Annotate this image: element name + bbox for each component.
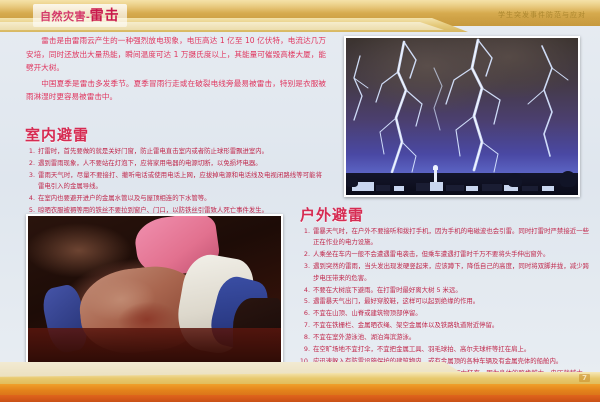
list-item: 2. 遇到雷雨现象，人不要站在灯泡下，应将家用电器的电源切断，以免损坏电器。 xyxy=(22,158,322,169)
list-item-text: 在空旷场地不宜打伞，不宜把金属工具、羽毛球拍、高尔夫球杆等扛在肩上。 xyxy=(313,344,589,355)
list-item-number: 2. xyxy=(297,249,313,260)
indoor-tips-list: 1. 打雷时，首先要做的就是关好门窗，防止雷电直击室内或者防止球形雷飘进室内。 … xyxy=(22,146,322,217)
list-item-number: 4. xyxy=(22,193,38,204)
church-spire-icon xyxy=(434,169,437,182)
list-item-text: 在室内也要避开进户的金属水管以及与屋顶相连的下水管等。 xyxy=(38,193,322,204)
list-item: 3. 遇到突然的雷雨，当头发出现发硬竖起来，应该蹲下，降低自己的高度，同时将双脚… xyxy=(297,261,589,284)
injury-photo xyxy=(26,214,283,374)
list-item-number: 2. xyxy=(22,158,38,169)
poster-page: 学生突发事件防范与应对 自然灾害-雷击 雷击是由雷雨云产生的一种强烈放电现象，电… xyxy=(0,0,600,402)
list-item-text: 遇到突然的雷雨，当头发出现发硬竖起来，应该蹲下，降低自己的高度，同时将双脚并拢，… xyxy=(313,261,589,284)
list-item-text: 遇雷暴天气出门，最好穿胶鞋，这样可以起到绝缘的作用。 xyxy=(313,296,589,307)
list-item: 1. 雷暴天气时，在户外不要接听和拨打手机，因为手机的电磁波也会引雷。同时打雷时… xyxy=(297,226,589,249)
lightning-photo xyxy=(344,36,580,197)
list-item-number: 4. xyxy=(297,285,313,296)
list-item-text: 打雷时，首先要做的就是关好门窗，防止雷电直击室内或者防止球形雷飘进室内。 xyxy=(38,146,322,157)
lightning-photo-village xyxy=(346,171,578,191)
list-item-text: 不要在大树底下避雨。在打雷时最好离大树 5 米远。 xyxy=(313,285,589,296)
list-item-number: 3. xyxy=(22,170,38,193)
list-item-number: 1. xyxy=(22,146,38,157)
list-item: 9. 在空旷场地不宜打伞，不宜把金属工具、羽毛球拍、高尔夫球杆等扛在肩上。 xyxy=(297,344,589,355)
list-item: 8. 不宜在室外游泳池、湖泊海滨游泳。 xyxy=(297,332,589,343)
list-item-number: 8. xyxy=(297,332,313,343)
list-item-text: 雷暴天气时，在户外不要接听和拨打手机，因为手机的电磁波也会引雷。同时打雷时严禁接… xyxy=(313,226,589,249)
series-label: 学生突发事件防范与应对 xyxy=(498,10,586,20)
list-item-number: 7. xyxy=(297,320,313,331)
list-item-text: 遇到雷雨现象，人不要站在灯泡下，应将家用电器的电源切断，以免损坏电器。 xyxy=(38,158,322,169)
list-item: 7. 不宜在铁栅栏、金属晒衣绳、架空金属体以及铁路轨道附近停留。 xyxy=(297,320,589,331)
intro-paragraph-1: 雷击是由雷雨云产生的一种强烈放电现象，电压高达 1 亿至 10 亿伏特，电流达几… xyxy=(26,34,326,75)
page-content: 雷击是由雷雨云产生的一种强烈放电现象，电压高达 1 亿至 10 亿伏特，电流达几… xyxy=(0,26,600,364)
list-item: 6. 不宜在山顶、山脊或建筑物顶部停留。 xyxy=(297,308,589,319)
list-item: 1. 打雷时，首先要做的就是关好门窗，防止雷电直击室内或者防止球形雷飘进室内。 xyxy=(22,146,322,157)
list-item: 4. 在室内也要避开进户的金属水管以及与屋顶相连的下水管等。 xyxy=(22,193,322,204)
list-item-text: 不宜在铁栅栏、金属晒衣绳、架空金属体以及铁路轨道附近停留。 xyxy=(313,320,589,331)
footer-red-band xyxy=(0,395,600,402)
page-title-main: 自然灾害 xyxy=(40,10,86,23)
intro-paragraph-2: 中国夏季是雷击多发季节。夏季冒雨行走或在破裂电线旁最易被雷击，特别是衣服被雨淋湿… xyxy=(26,77,326,104)
list-item-text: 雷雨天气时，尽量不要接打、撤听电话或使用电话上网，应拔掉电源和电话线及电视闭路线… xyxy=(38,170,322,193)
list-item-text: 人乘坐在车内一般不会遭遇雷电袭击，但乘车遭遇打雷时千万不要将头手伸出窗外。 xyxy=(313,249,589,260)
page-title: 自然灾害-雷击 xyxy=(33,4,127,27)
list-item-number: 9. xyxy=(297,344,313,355)
list-item-number: 5. xyxy=(297,296,313,307)
list-item: 2. 人乘坐在车内一般不会遭遇雷电袭击，但乘车遭遇打雷时千万不要将头手伸出窗外。 xyxy=(297,249,589,260)
page-footer: 7 xyxy=(0,362,600,402)
page-number: 7 xyxy=(579,374,590,382)
section-heading-outdoor: 户外避雷 xyxy=(300,204,364,225)
list-item-number: 6. xyxy=(297,308,313,319)
list-item-text: 不宜在山顶、山脊或建筑物顶部停留。 xyxy=(313,308,589,319)
list-item-number: 1. xyxy=(297,226,313,249)
list-item: 3. 雷雨天气时，尽量不要接打、撤听电话或使用电话上网，应拔掉电源和电话线及电视… xyxy=(22,170,322,193)
page-title-highlight: 雷击 xyxy=(90,8,120,24)
list-item-text: 不宜在室外游泳池、湖泊海滨游泳。 xyxy=(313,332,589,343)
list-item-number: 3. xyxy=(297,261,313,284)
list-item: 4. 不要在大树底下避雨。在打雷时最好离大树 5 米远。 xyxy=(297,285,589,296)
list-item: 5. 遇雷暴天气出门，最好穿胶鞋，这样可以起到绝缘的作用。 xyxy=(297,296,589,307)
intro-block: 雷击是由雷雨云产生的一种强烈放电现象，电压高达 1 亿至 10 亿伏特，电流达几… xyxy=(26,34,326,106)
section-heading-indoor: 室内避雷 xyxy=(25,124,89,145)
